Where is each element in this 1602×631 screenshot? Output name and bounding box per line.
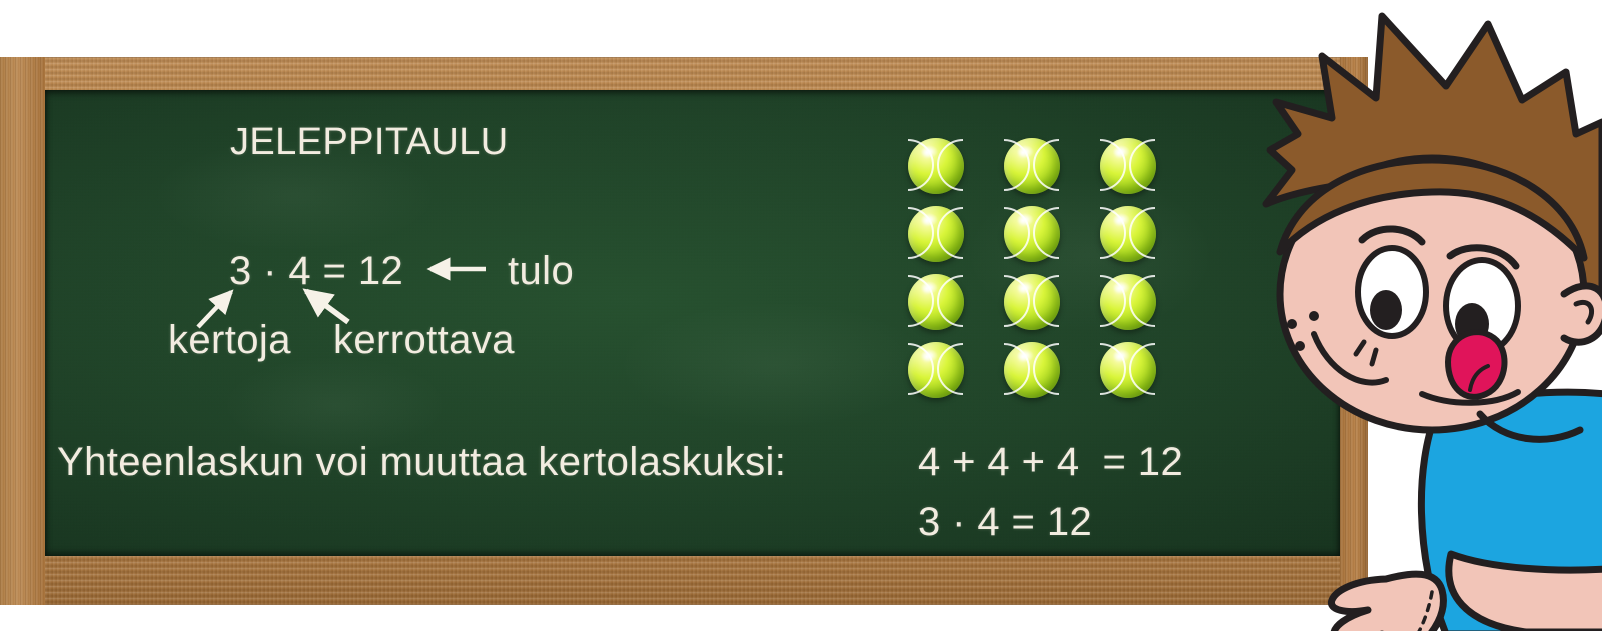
ball-highlight <box>921 145 938 158</box>
chalkboard-lesson-illustration: JELEPPITAULU 3 · 4 = 12 tulo kertoja ker… <box>0 0 1602 631</box>
multiplication-equation: 3 · 4 = 12 <box>918 500 1092 545</box>
ball-highlight <box>1113 145 1130 158</box>
tennis-ball-icon <box>1100 138 1156 194</box>
tennis-ball-grid <box>908 138 1196 410</box>
tennis-ball-icon <box>908 138 964 194</box>
ball-highlight <box>1017 213 1034 226</box>
label-tulo: tulo <box>508 249 574 294</box>
ball-highlight <box>1113 213 1130 226</box>
tennis-ball-icon <box>908 342 964 398</box>
tennis-ball-icon <box>1004 206 1060 262</box>
tennis-ball-icon <box>1004 138 1060 194</box>
tennis-ball-icon <box>908 206 964 262</box>
ball-highlight <box>1017 145 1034 158</box>
tennis-ball-icon <box>908 274 964 330</box>
ear <box>1564 286 1602 342</box>
tennis-ball-icon <box>1100 206 1156 262</box>
label-kertoja: kertoja <box>168 318 291 363</box>
tennis-ball-icon <box>1004 342 1060 398</box>
frame-bottom-rail <box>0 556 1368 605</box>
ball-highlight <box>1017 349 1034 362</box>
board-title: JELEPPITAULU <box>230 121 509 164</box>
tennis-ball-icon <box>1100 274 1156 330</box>
label-kerrottava: kerrottava <box>333 318 515 363</box>
ball-highlight <box>1017 281 1034 294</box>
main-equation: 3 · 4 = 12 <box>229 249 403 294</box>
cartoon-boy-figure <box>1236 0 1602 631</box>
ball-highlight <box>1113 281 1130 294</box>
tennis-ball-icon <box>1100 342 1156 398</box>
ball-highlight <box>921 281 938 294</box>
explanation-sentence: Yhteenlaskun voi muuttaa kertolaskuksi: <box>57 440 786 485</box>
frame-top-rail <box>0 57 1368 90</box>
pupil-left <box>1370 290 1402 330</box>
ball-highlight <box>1113 349 1130 362</box>
frame-left-stile <box>0 57 45 605</box>
tongue <box>1448 332 1504 397</box>
addition-equation: 4 + 4 + 4 = 12 <box>918 440 1183 485</box>
ball-highlight <box>921 349 938 362</box>
ball-highlight <box>921 213 938 226</box>
hand <box>1331 574 1443 631</box>
tennis-ball-icon <box>1004 274 1060 330</box>
